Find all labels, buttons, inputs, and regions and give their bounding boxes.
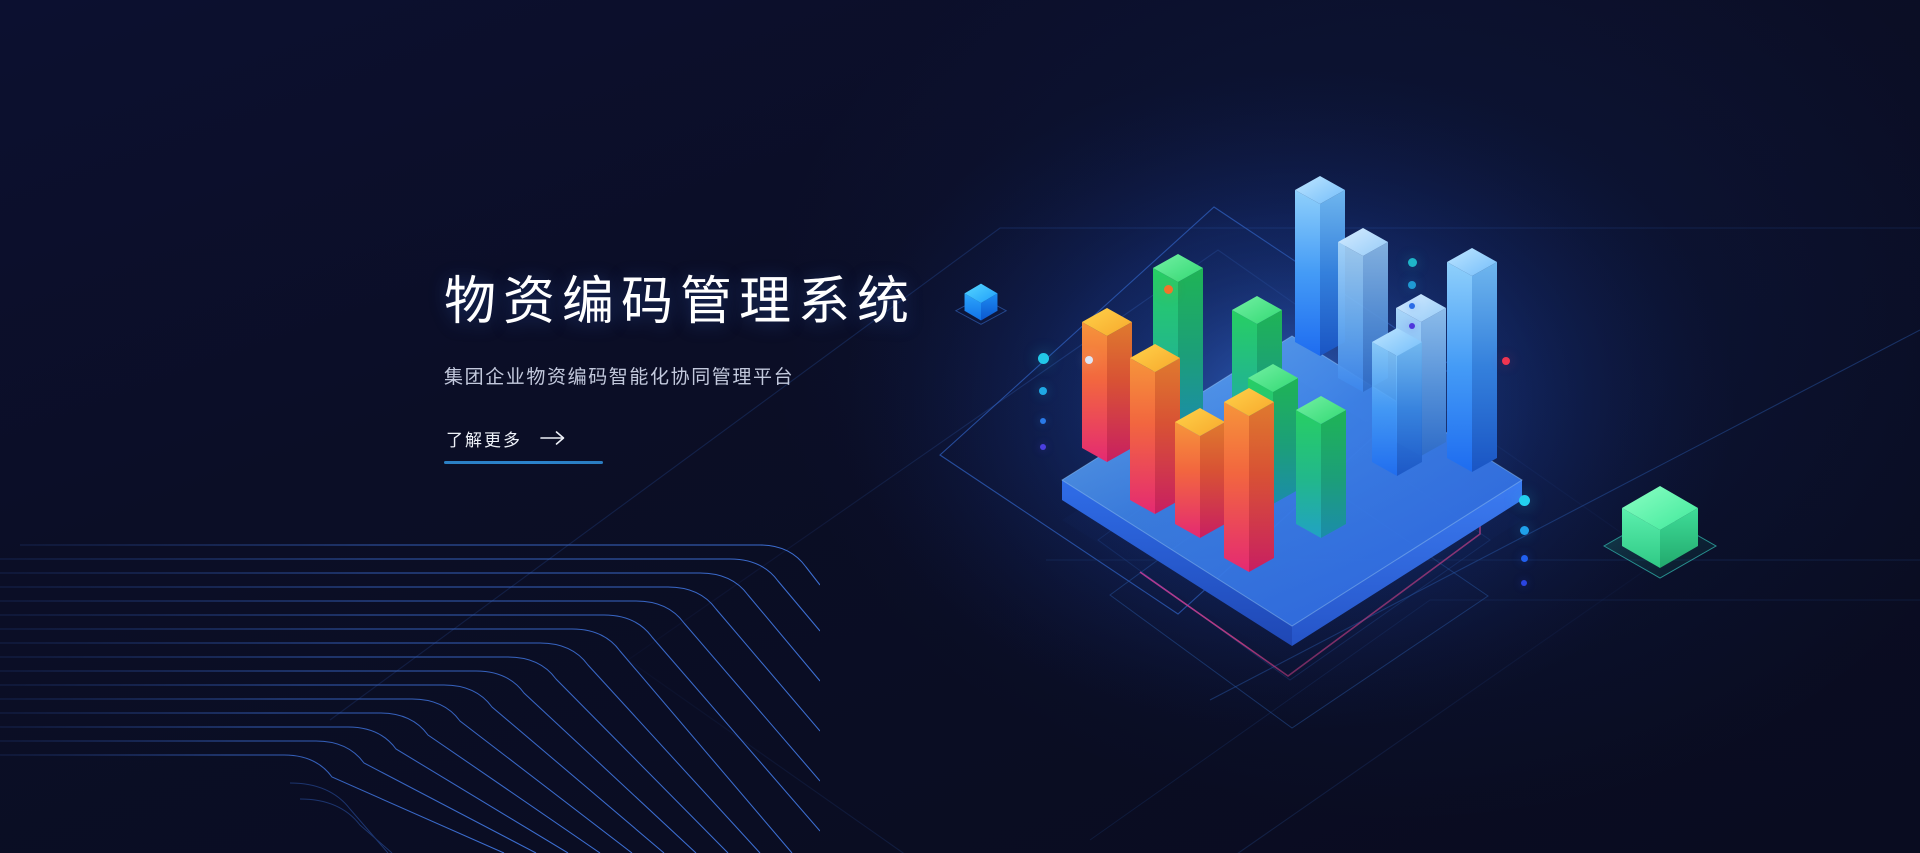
learn-more-inner[interactable]: 了解更多 <box>444 426 603 461</box>
bar-13-blue <box>1447 248 1497 472</box>
page-title: 物资编码管理系统 <box>444 273 916 333</box>
bar-10-green <box>1296 396 1346 538</box>
bar-4-warm <box>1224 388 1274 572</box>
circuit-lines-decor <box>0 533 820 853</box>
arrow-right-icon <box>540 430 566 446</box>
green-cube-icon <box>1600 480 1720 590</box>
learn-more-underline <box>444 461 603 464</box>
hero-content: 物资编码管理系统 <box>444 272 1184 464</box>
page-subtitle: 集团企业物资编码智能化协同管理平台 <box>444 364 1184 393</box>
blue-cube-icon <box>950 272 1012 334</box>
title-row: 物资编码管理系统 <box>444 272 1184 334</box>
bar-12-blue <box>1372 328 1422 476</box>
learn-more-label: 了解更多 <box>446 426 522 451</box>
learn-more-link[interactable]: 了解更多 <box>444 426 603 464</box>
bar-7-blue <box>1295 176 1345 356</box>
hero-banner: 物资编码管理系统 <box>0 0 1920 853</box>
